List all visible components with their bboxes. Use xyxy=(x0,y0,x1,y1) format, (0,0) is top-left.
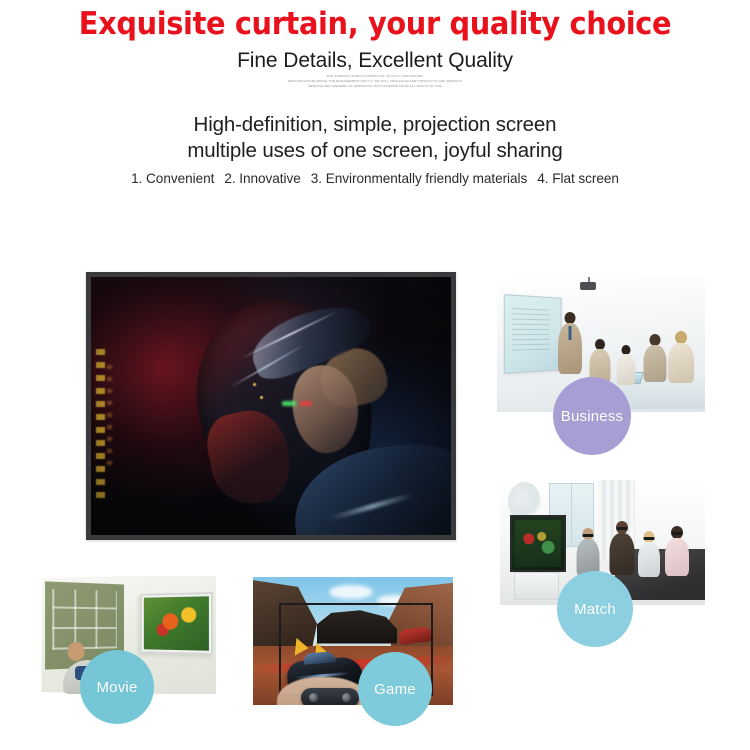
scene-badge-game[interactable]: Game xyxy=(358,652,432,726)
feature-list: 1. Convenient2. Innovative3. Environment… xyxy=(0,171,750,186)
person-body xyxy=(616,354,635,385)
person-body xyxy=(643,345,666,382)
person-head xyxy=(67,642,84,661)
scene-badge-match[interactable]: Match xyxy=(557,571,633,647)
feature-item-1: 1. Convenient xyxy=(131,171,214,186)
hero-vignette xyxy=(91,277,451,535)
scene-badge-label: Movie xyxy=(96,679,137,696)
person-body xyxy=(609,533,634,575)
scene-badge-business[interactable]: Business xyxy=(553,377,631,455)
game-cloud-1 xyxy=(329,585,373,599)
business-presenter xyxy=(557,312,583,374)
hero-screen-frame xyxy=(86,272,456,540)
feature-item-2: 2. Innovative xyxy=(224,171,300,186)
product-marketing-page: Exquisite curtain, your quality choice F… xyxy=(0,0,750,750)
hero-screen-image xyxy=(91,277,451,535)
scene-badge-label: Business xyxy=(561,408,623,425)
3d-glasses-icon xyxy=(643,537,654,540)
person-body xyxy=(638,542,660,577)
feature-item-4: 4. Flat screen xyxy=(537,171,619,186)
business-attendee-2 xyxy=(616,345,636,385)
match-viewer-1 xyxy=(576,528,600,576)
fineprint-line-3: SERVICE AND SINCERE CO-OPERATION WITH FR… xyxy=(0,84,750,89)
person-necktie xyxy=(569,326,572,340)
movie-wall-panels xyxy=(52,589,117,650)
business-attendee-4 xyxy=(668,331,695,383)
match-television xyxy=(510,515,565,571)
body-headline-line-1: High-definition, simple, projection scre… xyxy=(0,112,750,138)
match-viewer-4 xyxy=(664,526,689,576)
scene-badge-movie[interactable]: Movie xyxy=(80,650,154,724)
match-viewer-2 xyxy=(609,521,635,575)
3d-glasses-icon xyxy=(616,527,627,530)
3d-glasses-icon xyxy=(671,532,682,535)
feature-item-3: 3. Environmentally friendly materials xyxy=(311,171,528,186)
page-subtitle: Fine Details, Excellent Quality xyxy=(0,48,750,73)
ceiling-projector-icon xyxy=(580,282,596,290)
business-presentation-board xyxy=(504,294,562,373)
scene-badge-label: Game xyxy=(374,681,416,698)
game-controller xyxy=(301,688,359,705)
page-title: Exquisite curtain, your quality choice xyxy=(26,6,724,42)
movie-television xyxy=(140,592,213,655)
person-body xyxy=(668,343,694,383)
match-tv-stand xyxy=(514,572,559,600)
3d-glasses-icon xyxy=(582,534,593,537)
match-viewer-3 xyxy=(637,531,660,577)
body-headline-line-2: multiple uses of one screen, joyful shar… xyxy=(0,138,750,164)
person-body xyxy=(665,538,689,576)
business-attendee-3 xyxy=(643,334,667,382)
company-fineprint: THE COMPANY ALWAYS INSISTS ON "QUALITY A… xyxy=(0,74,750,89)
scene-badge-label: Match xyxy=(574,601,616,618)
